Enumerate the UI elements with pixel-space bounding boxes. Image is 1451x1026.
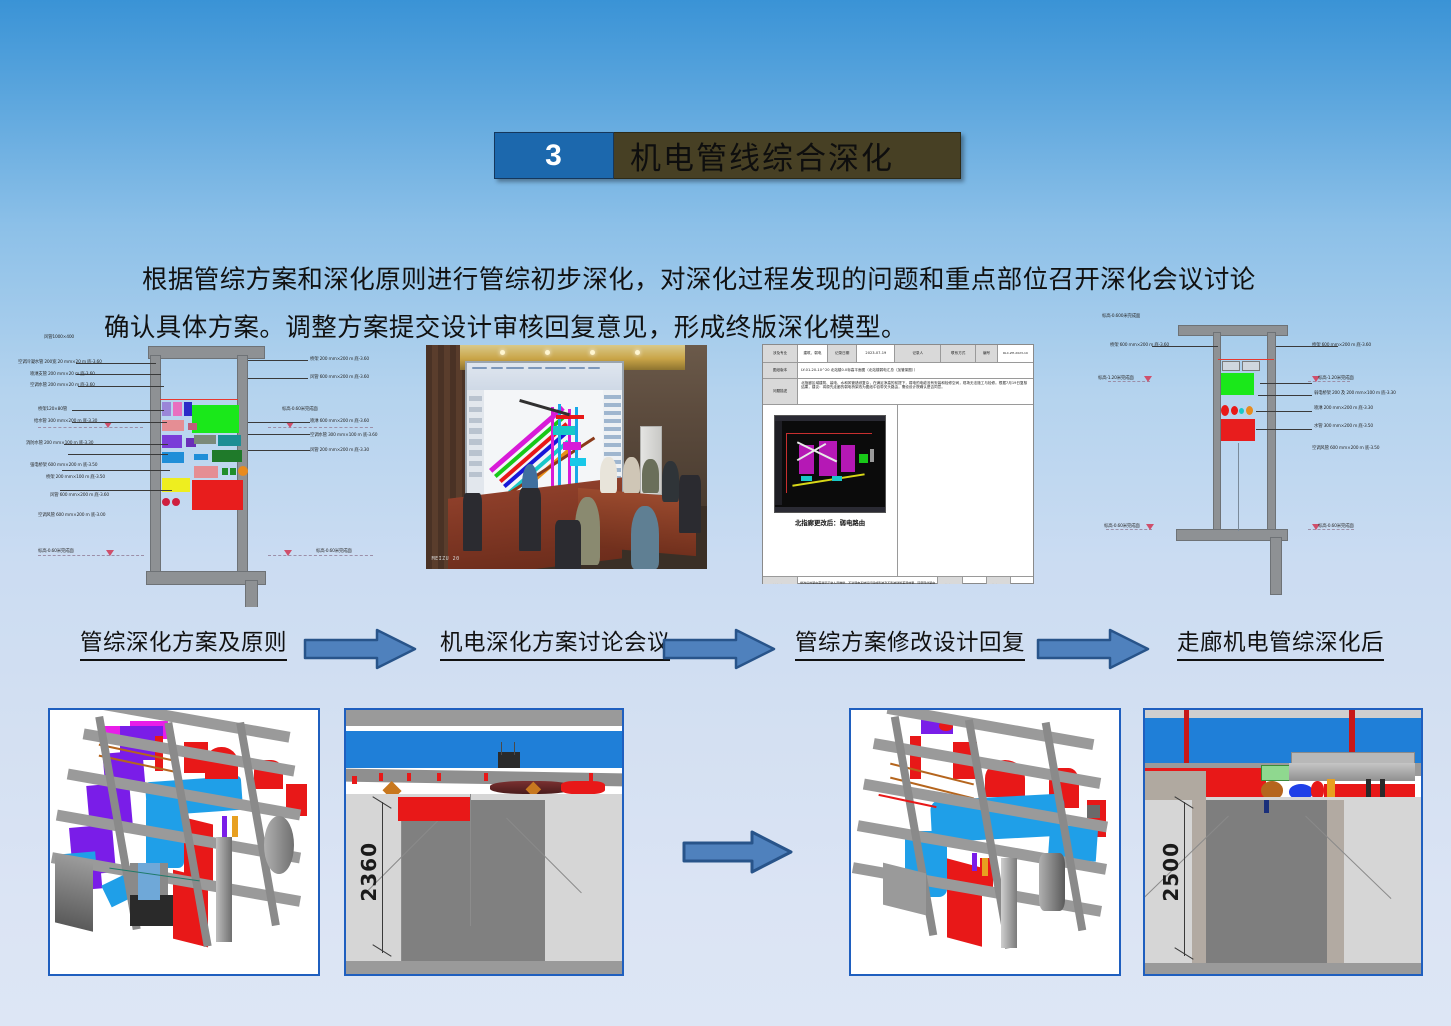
cad-annotation: 桥架120×80管: [38, 406, 67, 412]
flow-caption-3: 管综方案修改设计回复: [795, 625, 1025, 661]
cad-annotation: 风管 600 mm×200 m 底-3.60: [50, 492, 109, 498]
title-number-box: 3: [494, 132, 614, 179]
flow-caption-4: 走廊机电管综深化后: [1177, 625, 1384, 661]
photo-chair: [463, 493, 483, 551]
model-3d-after: [849, 708, 1121, 976]
design-reply-form: 涉及专业 建筑、弱电 记录日期 2023-07-19 记录人 联系方式 编号 R…: [762, 344, 1034, 584]
photo-person: [623, 457, 640, 493]
photo-chair: [519, 488, 541, 551]
cad-annotation: 标高-0.60米完成面: [282, 406, 318, 412]
cad-annotation: 桥架 200 mm×200 m 底-3.60: [310, 356, 369, 362]
cad-annotation: 空调风管 600 mm×200 m 底-3.00: [38, 512, 105, 518]
cad-annotation: 标高-0.60米完成面: [38, 548, 74, 554]
body-line-1: 根据管综方案和深化原则进行管综初步深化，对深化过程发现的问题和重点部位召开深化会…: [104, 256, 1360, 304]
cad-annotation: 弱电桥架 200 及 200 mm×100 m 底-3.30: [1314, 390, 1396, 396]
form-row-label: 问题描述: [763, 379, 798, 404]
photo-chair: [679, 475, 701, 533]
photo-person: [662, 461, 679, 501]
cad-annotation: 桥架 600 mm×200 m 底-3.60: [1110, 342, 1169, 348]
cad-annotation: 标高-0.60米完成面: [1104, 523, 1140, 529]
form-row-value: LY-01-20-10^20 北站楼0.0标高平面图（北站楼弱电汇总（加管架图）…: [798, 363, 1033, 378]
cad-annotation: 喷淋 600 mm×200 m 底-3.60: [310, 418, 369, 424]
form-header-label: 记录日期: [828, 345, 858, 362]
cad-annotation: 空调水管 200 mm×20 m 底-3.60: [30, 382, 95, 388]
form-header-value: RLC-ZH-2023-19: [998, 345, 1033, 362]
photo-person: [600, 457, 617, 493]
flow-caption-1: 管综深化方案及原则: [80, 625, 287, 661]
form-footer-value: [1011, 577, 1033, 584]
photo-watermark: MEIZU 20: [432, 556, 460, 562]
cad-annotation: 桥架 200 mm×100 m 底-3.50: [46, 474, 105, 480]
form-header-label: 涉及专业: [763, 345, 798, 362]
form-header-label: 记录人: [895, 345, 941, 362]
compare-arrow: [682, 828, 794, 876]
cad-annotation: 风管1000×400: [44, 334, 74, 340]
cad-annotation: 强电桥架 600 mm×200 m 底-3.50: [30, 462, 97, 468]
form-footer-label: 答复人: [938, 577, 962, 584]
cad-annotation: 空调冷凝水管 200宽 20 mm×20 m 底-3.60: [18, 359, 102, 365]
form-footer-value: 修改后的路由需满足正常人员维修，不对弱电系统运行造成影响及不影响建筑美观效果，同…: [798, 577, 938, 584]
cad-annotation: 空调水管 300 mm×100 m 底-3.60: [310, 432, 377, 438]
form-footer-label: 答复日期: [987, 577, 1011, 584]
cad-annotation: 给水管 300 mm×200 m 底-3.30: [34, 418, 97, 424]
cad-annotation: 标高-0.60米完成面: [1318, 523, 1354, 529]
form-row-label: 图纸版本: [763, 363, 798, 378]
dimension-value-2500: 2500: [1159, 842, 1183, 902]
cad-annotation: 风管 600 mm×200 m 底-3.60: [310, 374, 369, 380]
dimension-value-2360: 2360: [357, 842, 381, 902]
flow-caption-2: 机电深化方案讨论会议: [440, 625, 670, 661]
cad-annotation: 标高-1.20米完成面: [1098, 375, 1134, 381]
form-blank-panel: [898, 405, 1033, 576]
cad-annotation: 风管 200 mm×200 m 底-3.30: [310, 447, 369, 453]
photo-chair: [555, 520, 580, 569]
section-after: 2500: [1143, 708, 1423, 976]
photo-person: [631, 506, 659, 569]
form-image-panel: 北指廊更改后：弱电路由: [763, 405, 898, 576]
cad-annotation: 标高-0.60米完成面: [316, 548, 352, 554]
flow-arrow-2: [662, 627, 777, 671]
cad-section-after: 标高-0.600米完成面 桥架 600 mm×200 m 底-3.60 标高-1…: [1090, 305, 1450, 607]
flow-arrow-1: [303, 627, 418, 671]
photo-person: [642, 459, 659, 493]
cad-annotation: 桥架 600 mm×200 m 底-3.60: [1312, 342, 1371, 348]
cad-section-before: 风管1000×400 空调冷凝水管 200宽 20 mm×20 m 底-3.60…: [16, 322, 416, 607]
cad-annotation: 空调风管 600 mm×200 m 底-3.50: [1312, 445, 1379, 451]
form-header-label: 编号: [976, 345, 998, 362]
form-footer-label: 答复意见: [763, 577, 798, 584]
cad-annotation: 标高-0.600米完成面: [1102, 313, 1140, 319]
meeting-photo: MEIZU 20: [426, 345, 707, 569]
page-title: 机电管线综合深化: [614, 132, 961, 179]
model-3d-before: [48, 708, 320, 976]
cad-annotation: 标高-1.20米完成面: [1318, 375, 1354, 381]
cad-annotation: 水管 300 mm×200 m 底-3.50: [1314, 423, 1373, 429]
cad-annotation: 喷淋支管 200 mm×20 m 底-3.60: [30, 371, 95, 377]
cad-annotation: 喷淋 200 mm×200 m 底-3.30: [1314, 405, 1373, 411]
form-row-value: 北指廊区域建筑、装电、水和风管错综复杂，在满足净高的前提下，弱电的电缆没有安装和…: [798, 379, 1033, 404]
slide-title-banner: 3 机电管线综合深化: [494, 132, 961, 179]
cad-annotation: 消防水管 200 mm×100 m 底-3.30: [26, 440, 93, 446]
dimension-line: [382, 802, 383, 952]
form-footer-value: [963, 577, 987, 584]
embedded-cad-screenshot: [774, 415, 887, 513]
form-header-value: 建筑、弱电: [798, 345, 828, 362]
form-header-label: 联系方式: [941, 345, 976, 362]
section-before: 2360: [344, 708, 624, 976]
flow-arrow-3: [1036, 627, 1151, 671]
embedded-image-caption: 北指廊更改后：弱电路由: [795, 518, 865, 527]
form-header-value: 2023-07-19: [857, 345, 895, 362]
dimension-line: [1184, 802, 1185, 955]
